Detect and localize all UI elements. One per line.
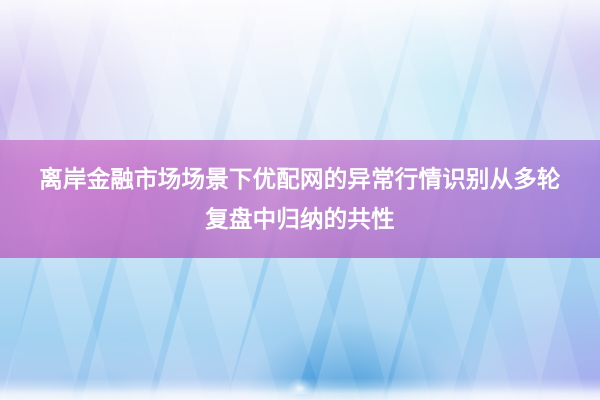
page-title-line-2: 复盘中归纳的共性 [205, 199, 395, 239]
page-title: 离岸金融市场场景下优配网的异常行情识别从多轮 复盘中归纳的共性 [0, 140, 600, 258]
decorative-title-banner: 离岸金融市场场景下优配网的异常行情识别从多轮 复盘中归纳的共性 [0, 0, 600, 400]
page-title-line-1: 离岸金融市场场景下优配网的异常行情识别从多轮 [39, 159, 560, 199]
bottom-light-spark [287, 376, 313, 394]
